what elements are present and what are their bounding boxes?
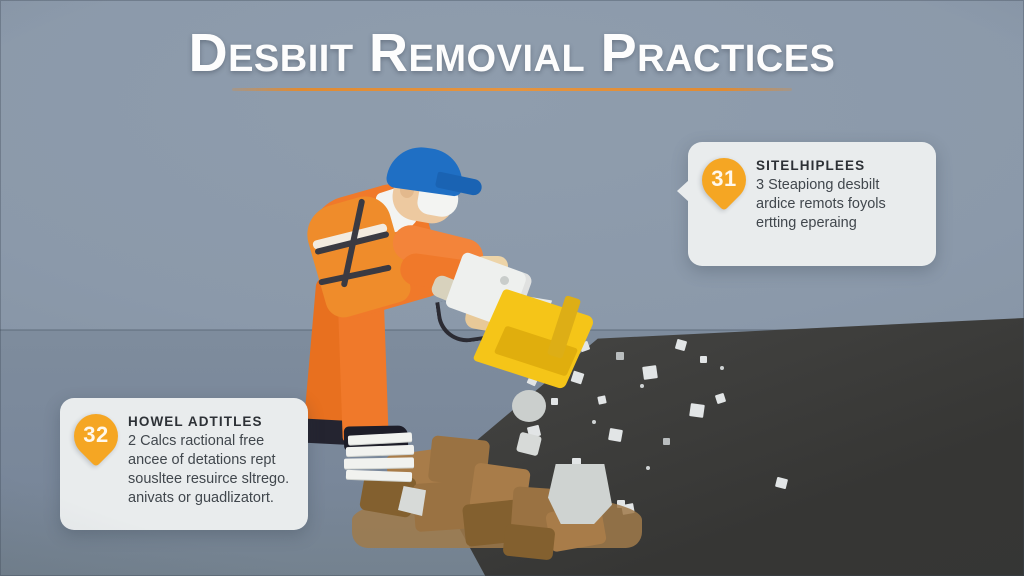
power-tool-button bbox=[500, 276, 509, 285]
debris-fleck bbox=[642, 365, 658, 380]
callout-body-line: ertting eperaing bbox=[756, 214, 922, 233]
debris-fleck bbox=[592, 420, 596, 424]
callout-body-line: 2 Calcs ractional free bbox=[128, 432, 294, 451]
debris-fleck bbox=[640, 384, 644, 388]
rubble-rock bbox=[502, 523, 555, 560]
debris-fleck bbox=[689, 403, 705, 418]
map-pin-number: 31 bbox=[700, 166, 748, 192]
debris-plank bbox=[344, 457, 414, 468]
debris-plank bbox=[348, 432, 412, 444]
callout-body-line: 3 Steapiong desbilt bbox=[756, 176, 922, 195]
callout-tail-icon bbox=[677, 180, 689, 202]
title-underline-rule bbox=[232, 88, 792, 91]
callout-heading: SITELHIPLEES bbox=[756, 158, 922, 173]
debris-fleck bbox=[663, 438, 670, 445]
infographic-canvas: Desbiit Removial Practices bbox=[0, 0, 1024, 576]
debris-chunk bbox=[516, 432, 542, 457]
callout-text-block: SITELHIPLEES 3 Steapiong desbilt ardice … bbox=[756, 156, 922, 233]
callout-body-line: ardice remots foyols bbox=[756, 195, 922, 214]
debris-fleck bbox=[597, 395, 606, 404]
callout-body-line: anivats or guadlizatort. bbox=[128, 489, 294, 508]
debris-chunk bbox=[548, 464, 612, 524]
callout-body-line: sousltee resuirce sltrego. bbox=[128, 470, 294, 489]
callout-body-line: ancee of detations rept bbox=[128, 451, 294, 470]
debris-fleck bbox=[700, 356, 707, 363]
page-title: Desbiit Removial Practices bbox=[0, 22, 1024, 84]
map-pin-number: 32 bbox=[72, 422, 120, 448]
debris-fleck bbox=[551, 398, 558, 405]
map-pin-badge-icon: 31 bbox=[700, 158, 748, 216]
callout-text-block: HOWEL ADTITLES 2 Calcs ractional free an… bbox=[128, 412, 294, 508]
debris-chunk-round bbox=[512, 390, 546, 422]
callout-card-bottom-left[interactable]: 32 HOWEL ADTITLES 2 Calcs ractional free… bbox=[60, 398, 308, 530]
map-pin-badge-icon: 32 bbox=[72, 414, 120, 472]
debris-fleck bbox=[616, 352, 624, 360]
debris-fleck bbox=[720, 366, 724, 370]
callout-card-top-right[interactable]: 31 SITELHIPLEES 3 Steapiong desbilt ardi… bbox=[688, 142, 936, 266]
callout-heading: HOWEL ADTITLES bbox=[128, 414, 294, 429]
debris-plank bbox=[346, 470, 412, 481]
rubble-pile bbox=[352, 430, 652, 548]
